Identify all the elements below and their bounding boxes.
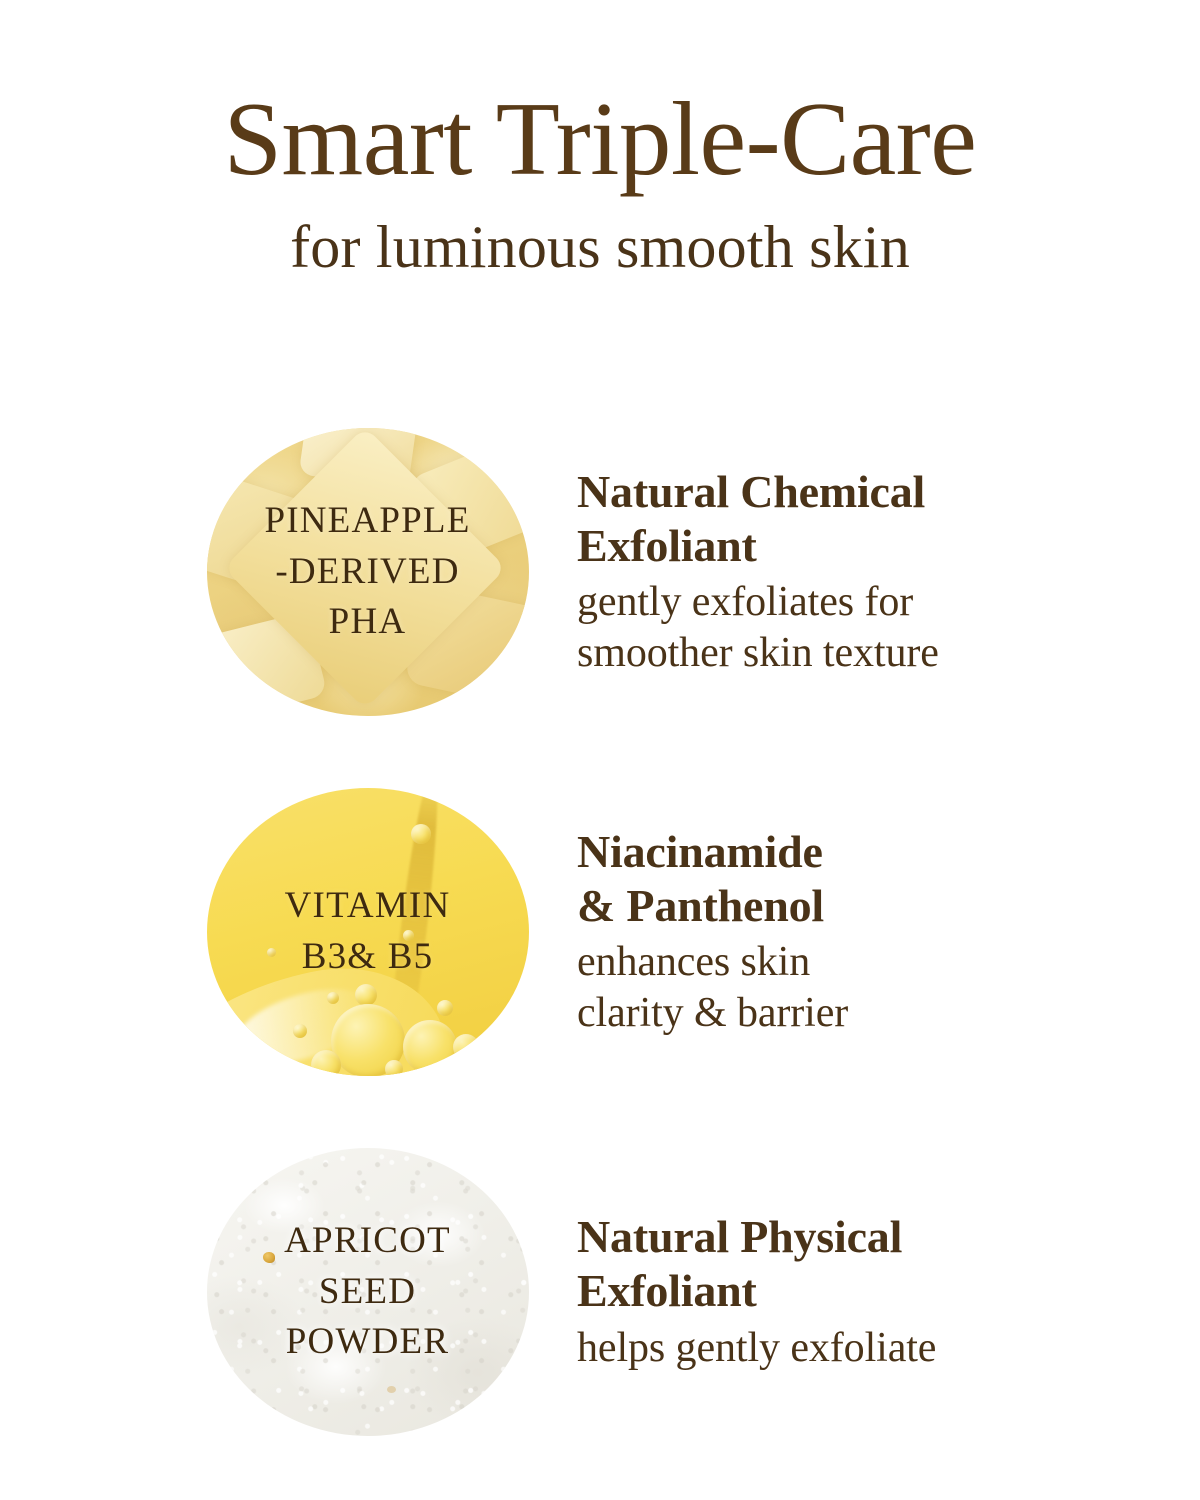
benefit-heading-line: Niacinamide [577, 825, 1160, 879]
benefit-row-pineapple: PINEAPPLE -DERIVED PHA Natural Chemical … [0, 392, 1200, 752]
page-subtitle: for luminous smooth skin [0, 217, 1200, 277]
benefit-heading-line: Natural Physical [577, 1210, 1160, 1264]
infographic-page: Smart Triple-Care for luminous smooth sk… [0, 0, 1200, 1500]
oil-bubble-icon [267, 948, 276, 957]
ingredient-circle-apricot-wrap: APRICOT SEED POWDER [205, 1146, 530, 1438]
benefit-heading-line: Exfoliant [577, 519, 1160, 573]
ingredient-circle-apricot: APRICOT SEED POWDER [207, 1148, 529, 1436]
benefit-description: gently exfoliates for smoother skin text… [577, 577, 1160, 679]
oil-bubble-icon [311, 1050, 341, 1076]
ingredient-circle-vitamin: VITAMIN B3& B5 [207, 788, 529, 1076]
benefit-row-vitamin: VITAMIN B3& B5 Niacinamide & Panthenol e… [0, 752, 1200, 1112]
benefit-heading: Niacinamide & Panthenol [577, 825, 1160, 934]
oil-bubble-icon [355, 984, 377, 1006]
ingredient-label-apricot: APRICOT SEED POWDER [284, 1216, 451, 1368]
oil-bubble-icon [385, 1060, 403, 1076]
ingredient-label-line: -DERIVED [264, 547, 470, 598]
benefit-copy-pineapple: Natural Chemical Exfoliant gently exfoli… [530, 465, 1200, 680]
benefit-heading: Natural Chemical Exfoliant [577, 465, 1160, 574]
benefit-copy-apricot: Natural Physical Exfoliant helps gently … [530, 1210, 1200, 1374]
header: Smart Triple-Care for luminous smooth sk… [0, 0, 1200, 277]
oil-bubble-icon [327, 992, 339, 1004]
ingredient-label-vitamin: VITAMIN B3& B5 [285, 881, 451, 982]
benefit-heading: Natural Physical Exfoliant [577, 1210, 1160, 1319]
oil-bubble-icon [293, 1024, 307, 1038]
ingredient-label-line: VITAMIN [285, 881, 451, 932]
ingredient-label-line: B3& B5 [285, 932, 451, 983]
benefit-description-line: enhances skin [577, 937, 1160, 988]
benefit-row-apricot: APRICOT SEED POWDER Natural Physical Exf… [0, 1112, 1200, 1472]
oil-bubble-icon [437, 1000, 453, 1016]
ingredient-label-line: PINEAPPLE [264, 496, 470, 547]
benefit-description-line: smoother skin texture [577, 628, 1160, 679]
amber-speck-icon [387, 1386, 396, 1393]
oil-bubble-icon [453, 1034, 479, 1060]
ingredient-label-line: APRICOT [284, 1216, 451, 1267]
benefit-copy-vitamin: Niacinamide & Panthenol enhances skin cl… [530, 825, 1200, 1040]
amber-speck-icon [263, 1252, 275, 1263]
benefit-description: helps gently exfoliate [577, 1323, 1160, 1374]
page-title: Smart Triple-Care [0, 86, 1200, 191]
benefit-description-line: helps gently exfoliate [577, 1323, 1160, 1374]
benefit-heading-line: & Panthenol [577, 879, 1160, 933]
ingredient-circle-pineapple-wrap: PINEAPPLE -DERIVED PHA [205, 426, 530, 718]
ingredient-circle-pineapple: PINEAPPLE -DERIVED PHA [207, 428, 529, 716]
oil-bubble-icon [411, 824, 431, 844]
benefit-heading-line: Natural Chemical [577, 465, 1160, 519]
ingredient-circle-vitamin-wrap: VITAMIN B3& B5 [205, 786, 530, 1078]
ingredient-label-line: POWDER [284, 1317, 451, 1368]
benefit-description-line: gently exfoliates for [577, 577, 1160, 628]
ingredient-label-pineapple: PINEAPPLE -DERIVED PHA [264, 496, 470, 648]
benefit-heading-line: Exfoliant [577, 1264, 1160, 1318]
benefits-list: PINEAPPLE -DERIVED PHA Natural Chemical … [0, 392, 1200, 1472]
benefit-description: enhances skin clarity & barrier [577, 937, 1160, 1039]
ingredient-label-line: SEED [284, 1267, 451, 1318]
oil-bubble-icon [403, 1020, 457, 1074]
ingredient-label-line: PHA [264, 597, 470, 648]
benefit-description-line: clarity & barrier [577, 988, 1160, 1039]
